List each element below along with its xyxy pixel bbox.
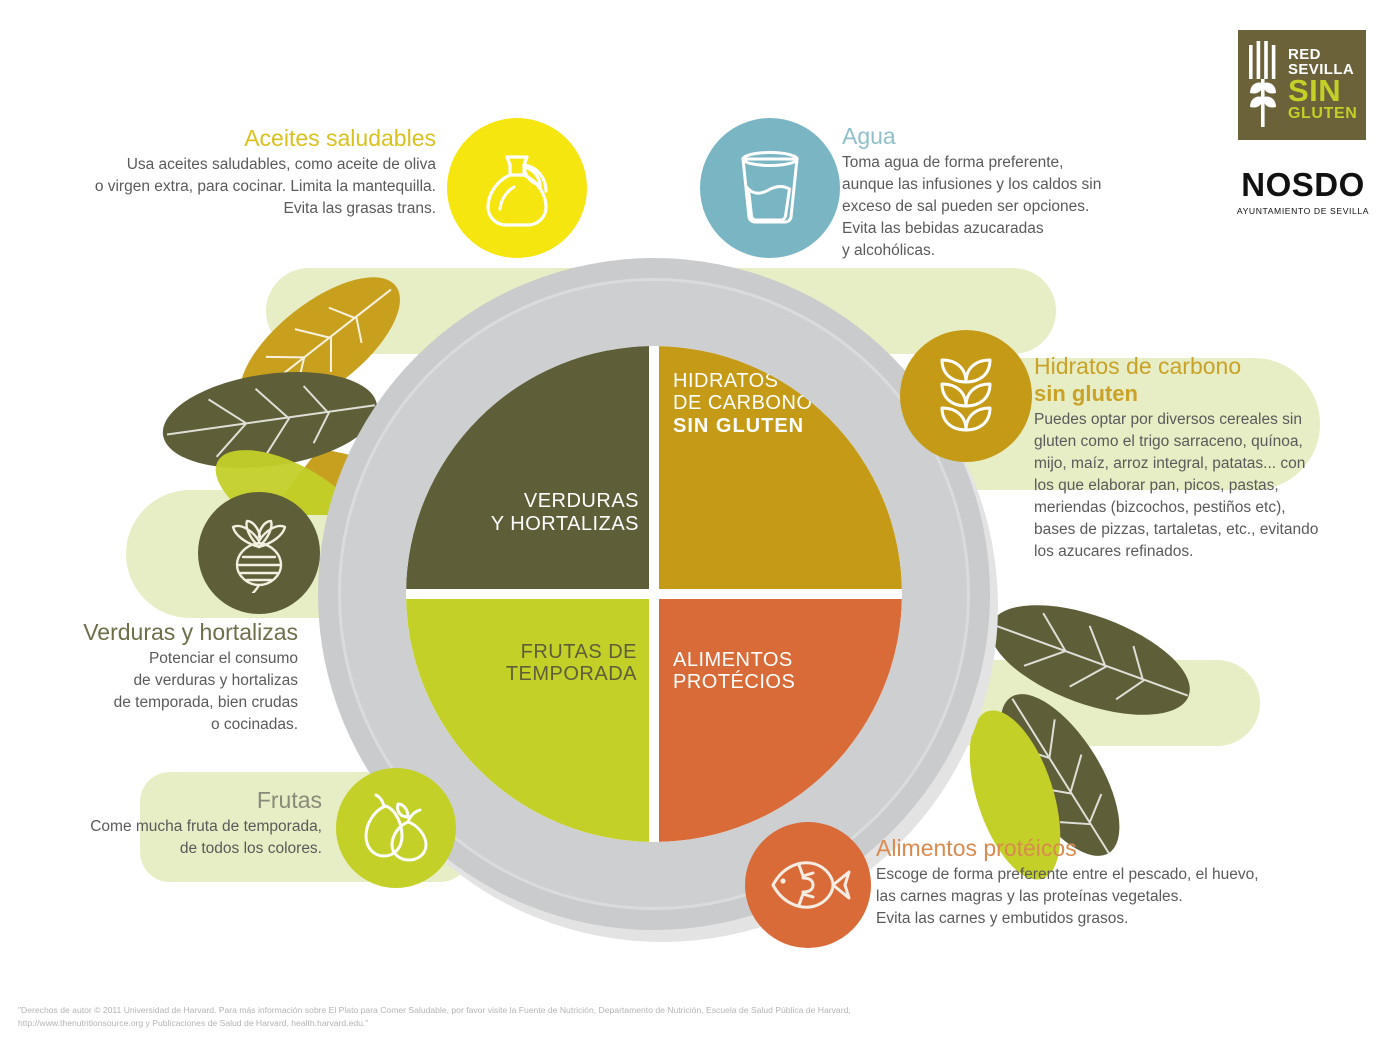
oil-bottle-icon [478,147,556,229]
verduras-icon-circle[interactable] [198,492,320,614]
callout-agua: Agua Toma agua de forma preferente, aunq… [842,124,1172,262]
agua-body: Toma agua de forma preferente, aunque la… [842,152,1172,262]
verduras-title: Verduras y hortalizas [30,620,298,645]
logo-nosdo[interactable]: NOSDO AYUNTAMIENTO DE SEVILLA [1232,168,1374,216]
hidratos-title: Hidratos de carbono [1034,354,1364,379]
agua-icon-circle[interactable] [700,118,840,258]
aceites-body: Usa aceites saludables, como aceite de o… [60,154,436,220]
plate-label-hidratos: HIDRATOS DE CARBONO SIN GLUTEN [673,370,812,437]
agua-title: Agua [842,124,1172,149]
callout-frutas: Frutas Come mucha fruta de temporada, de… [40,788,322,860]
frutas-body: Come mucha fruta de temporada, de todos … [40,816,322,860]
callout-proteicos: Alimentos protéicos Escoge de forma pref… [876,836,1316,930]
verduras-body: Potenciar el consumo de verduras y horta… [30,648,298,736]
callout-aceites: Aceites saludables Usa aceites saludable… [60,126,436,220]
frutas-title: Frutas [40,788,322,813]
plate-quadrant-hidratos[interactable]: HIDRATOS DE CARBONO SIN GLUTEN [659,346,902,589]
logo-line-gluten: GLUTEN [1288,106,1357,122]
proteicos-body: Escoge de forma preferente entre el pesc… [876,864,1316,930]
aceites-title: Aceites saludables [60,126,436,151]
proteicos-title: Alimentos protéicos [876,836,1316,861]
plate-food-area: VERDURAS Y HORTALIZAS HIDRATOS DE CARBON… [406,346,902,842]
logo-red-sevilla-sin-gluten[interactable]: RED SEVILLA SIN GLUTEN [1238,30,1366,140]
plate-label-proteicos: ALIMENTOS PROTÉCIOS [673,649,795,694]
nosdo-subtitle: AYUNTAMIENTO DE SEVILLA [1232,206,1374,216]
infographic-canvas: VERDURAS Y HORTALIZAS HIDRATOS DE CARBON… [0,0,1400,1054]
frutas-icon-circle[interactable] [336,768,456,888]
plate-quadrant-verduras[interactable]: VERDURAS Y HORTALIZAS [406,346,649,589]
logo-line-sin: SIN [1288,77,1357,106]
hidratos-icon-circle[interactable] [900,330,1032,462]
beet-icon [223,513,295,593]
hidratos-title-2: sin gluten [1034,382,1364,405]
callout-hidratos: Hidratos de carbono sin gluten Puedes op… [1034,354,1364,563]
nosdo-wordmark: NOSDO [1232,168,1374,201]
callout-verduras: Verduras y hortalizas Potenciar el consu… [30,620,298,736]
hidratos-body: Puedes optar por diversos cereales sin g… [1034,409,1364,563]
wheat-icon [928,354,1004,438]
plate-quadrant-proteicos[interactable]: ALIMENTOS PROTÉCIOS [659,599,902,842]
copyright-footer: "Derechos de autor © 2011 Universidad de… [18,1004,858,1031]
wheat-stalk-logo-icon [1244,39,1284,131]
proteicos-icon-circle[interactable] [745,822,871,948]
plate-label-frutas: FRUTAS DE TEMPORADA [506,641,637,686]
fish-icon [765,854,851,916]
aceites-icon-circle[interactable] [447,118,587,258]
fruit-icon [358,792,434,864]
water-glass-icon [731,145,809,231]
plate-label-verduras: VERDURAS Y HORTALIZAS [491,490,639,535]
